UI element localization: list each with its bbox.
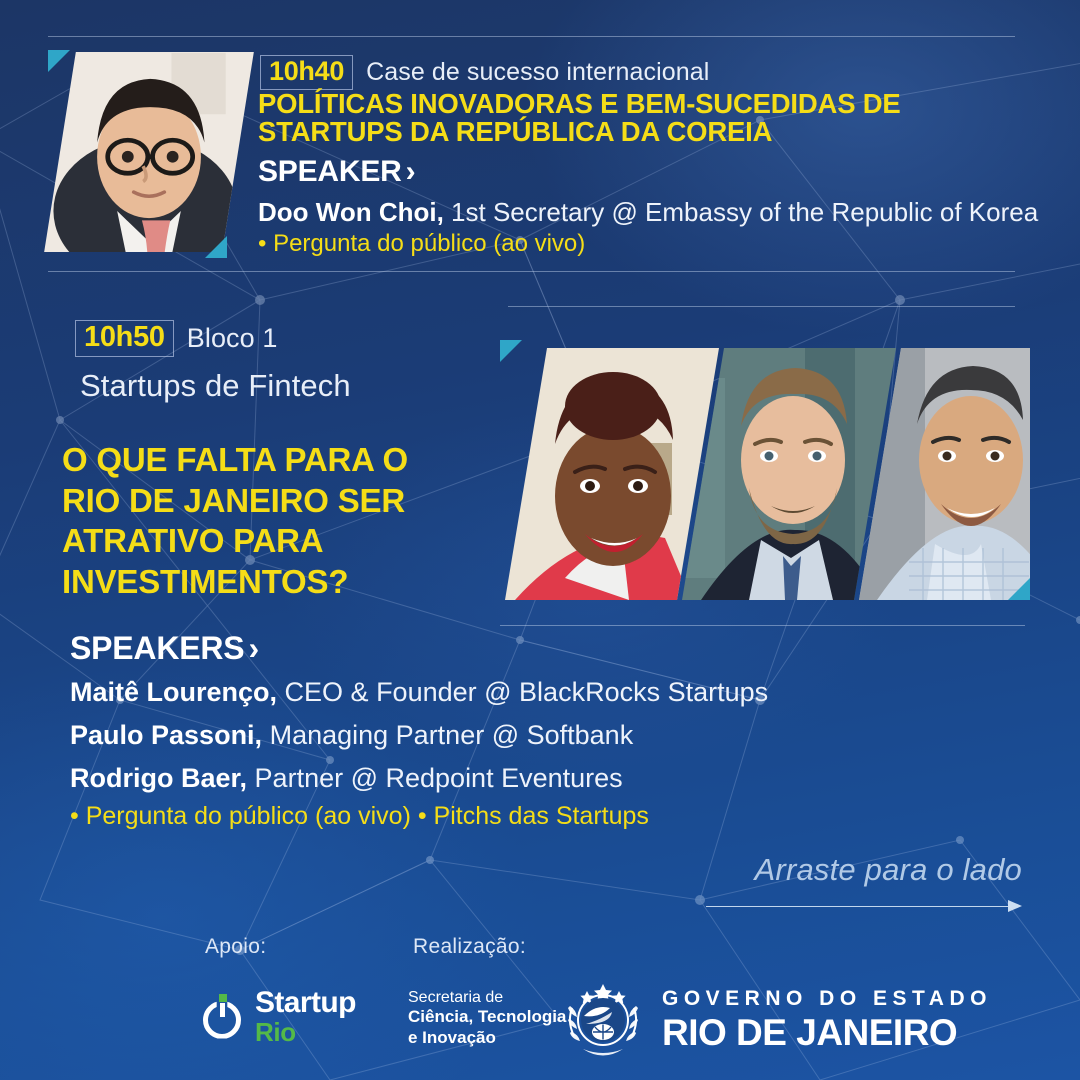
session-2-title: O QUE FALTA PARA O RIO DE JANEIRO SER AT… bbox=[62, 440, 482, 602]
realizacao-label: Realização: bbox=[413, 935, 526, 959]
speakers-label-text: SPEAKERS bbox=[70, 630, 244, 666]
session-2-speakers-label: SPEAKERS› bbox=[70, 630, 259, 667]
apoio-label: Apoio: bbox=[205, 935, 266, 959]
speaker-label-text: SPEAKER bbox=[258, 155, 402, 188]
startup-rio-line1: Startup bbox=[255, 988, 356, 1018]
secretaria-line2: Ciência, Tecnologia bbox=[408, 1007, 566, 1027]
secretaria-line3: e Inovação bbox=[408, 1028, 566, 1048]
poster-canvas: 10h40 Case de sucesso internacional POLÍ… bbox=[0, 0, 1080, 1080]
divider-session-1 bbox=[48, 271, 1015, 272]
swipe-hint-text: Arraste para o lado bbox=[706, 852, 1022, 888]
session-2-speaker-row: Maitê Lourenço, CEO & Founder @ BlackRoc… bbox=[70, 676, 930, 710]
session-2-title-line: ATRATIVO PARA bbox=[62, 521, 482, 562]
swipe-arrow-icon bbox=[706, 898, 1022, 916]
swipe-hint: Arraste para o lado bbox=[706, 852, 1022, 916]
session-2-meta: 10h50 Bloco 1 bbox=[75, 320, 278, 357]
session-1-time-badge: 10h40 bbox=[260, 55, 353, 90]
session-2-kicker: Bloco 1 bbox=[187, 323, 278, 354]
speaker-role: 1st Secretary @ Embassy of the Republic … bbox=[451, 197, 1038, 227]
chevron-right-icon: › bbox=[406, 155, 416, 188]
speaker-role: Partner @ Redpoint Eventures bbox=[255, 763, 623, 793]
divider-session-2-upper bbox=[508, 306, 1015, 307]
startup-rio-logo: Startup Rio bbox=[200, 988, 356, 1045]
session-2-title-line: O QUE FALTA PARA O bbox=[62, 440, 482, 481]
session-1-meta: 10h40 Case de sucesso internacional bbox=[260, 55, 709, 90]
governo-line1: GOVERNO DO ESTADO bbox=[662, 988, 992, 1009]
session-2-title-line: INVESTIMENTOS? bbox=[62, 562, 482, 603]
speaker-photo-doo-won-choi bbox=[44, 52, 254, 252]
speaker-name: Doo Won Choi, bbox=[258, 197, 444, 227]
chevron-right-icon: › bbox=[248, 630, 258, 666]
speaker-name: Rodrigo Baer, bbox=[70, 763, 247, 793]
session-1-notes: • Pergunta do público (ao vivo) bbox=[258, 230, 585, 258]
session-2-time-badge: 10h50 bbox=[75, 320, 174, 357]
session-1-title: POLÍTICAS INOVADORAS E BEM-SUCEDIDAS DE … bbox=[258, 90, 1018, 146]
divider-top bbox=[48, 36, 1015, 37]
divider-session-2-lower bbox=[500, 625, 1025, 626]
session-2-speaker-row: Rodrigo Baer, Partner @ Redpoint Eventur… bbox=[70, 762, 930, 796]
session-1-speaker-label: SPEAKER› bbox=[258, 155, 415, 189]
governo-rj-logo: GOVERNO DO ESTADO RIO DE JANEIRO bbox=[560, 972, 992, 1066]
session-2-subtitle: Startups de Fintech bbox=[80, 368, 351, 404]
startup-rio-line2: Rio bbox=[255, 1019, 356, 1045]
secretaria-line1: Secretaria de bbox=[408, 988, 566, 1007]
session-1-kicker: Case de sucesso internacional bbox=[366, 58, 709, 87]
speakers-photo-group bbox=[505, 348, 1030, 600]
speaker-name: Maitê Lourenço, bbox=[70, 677, 277, 707]
session-2-speaker-row: Paulo Passoni, Managing Partner @ Softba… bbox=[70, 719, 930, 753]
session-2-notes: • Pergunta do público (ao vivo) • Pitchs… bbox=[70, 802, 649, 831]
session-1-speaker-row: Doo Won Choi, 1st Secretary @ Embassy of… bbox=[258, 196, 1048, 229]
accent-triangle-bottom-right-2 bbox=[1008, 578, 1030, 600]
session-2-title-line: RIO DE JANEIRO SER bbox=[62, 481, 482, 522]
speaker-role: Managing Partner @ Softbank bbox=[270, 720, 634, 750]
speaker-role: CEO & Founder @ BlackRocks Startups bbox=[285, 677, 769, 707]
accent-triangle-top-left-1 bbox=[48, 50, 70, 72]
power-button-icon bbox=[200, 994, 246, 1040]
accent-triangle-bottom-right-1 bbox=[205, 236, 227, 258]
speaker-name: Paulo Passoni, bbox=[70, 720, 262, 750]
governo-line2: RIO DE JANEIRO bbox=[662, 1014, 992, 1051]
rj-coat-of-arms-icon bbox=[560, 972, 646, 1066]
secretaria-logo: Secretaria de Ciência, Tecnologia e Inov… bbox=[408, 988, 566, 1048]
